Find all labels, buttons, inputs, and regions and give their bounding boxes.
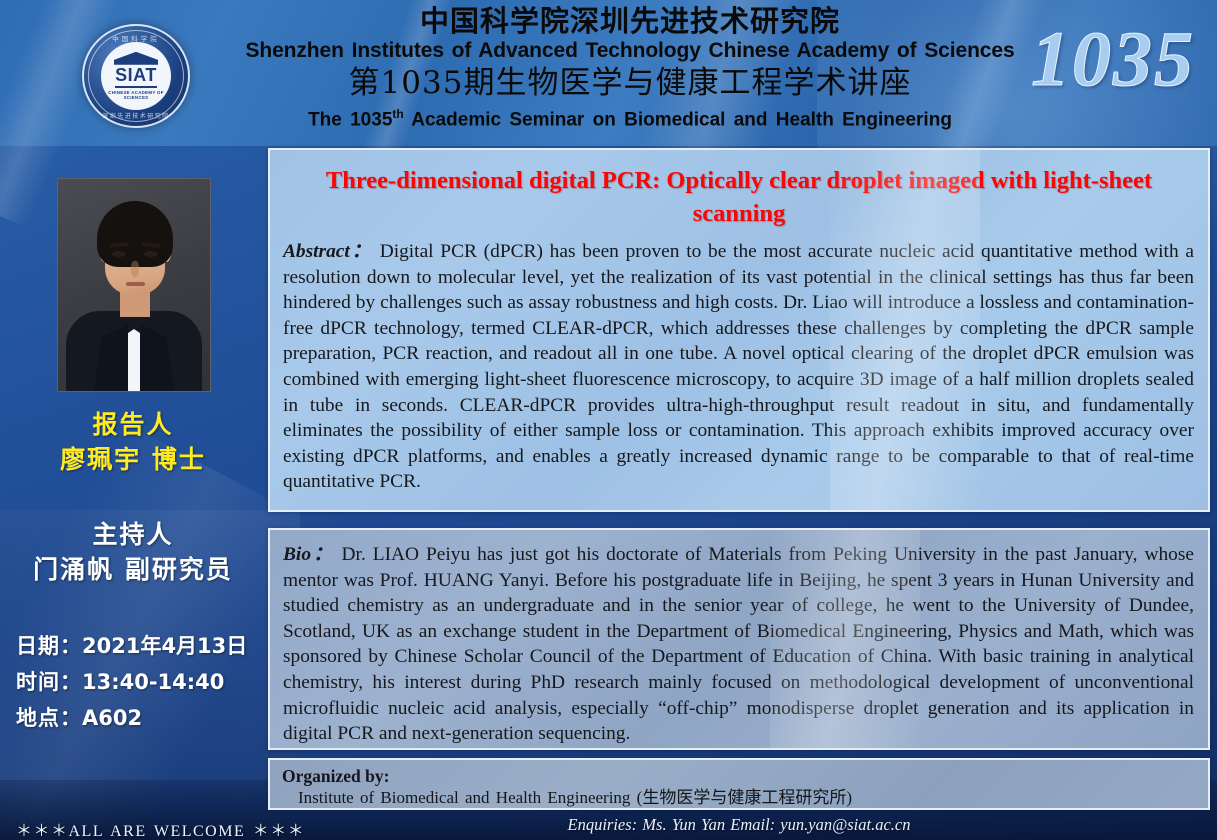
host-info: 主持人 门涌帆 副研究员 — [0, 518, 266, 588]
bio-body: Dr. LIAO Peiyu has just got his doctorat… — [283, 544, 1194, 744]
issue-number-watermark: 1035 — [1031, 20, 1195, 98]
organization-name-en: Shenzhen Institutes of Advanced Technolo… — [200, 38, 1060, 64]
speaker-name: 廖珮宇 博士 — [0, 442, 266, 478]
date-label: 日期： — [16, 634, 82, 658]
photo-eye-left — [112, 251, 126, 257]
organizer-panel: Organized by: Institute of Biomedical an… — [268, 758, 1210, 810]
location-value: A602 — [82, 706, 142, 730]
seminar-poster: 中国科学院 深圳先进技术研究院 SIAT CHINESE ACADEMY OF … — [0, 0, 1217, 840]
photo-hair — [97, 201, 173, 267]
logo-emblem: SIAT CHINESE ACADEMY OF SCIENCES — [101, 42, 171, 110]
photo-nose — [131, 261, 139, 277]
logo-roof-icon — [114, 52, 158, 65]
event-details: 日期：2021年4月13日 时间：13:40-14:40 地点：A602 — [16, 628, 266, 736]
event-detail-date: 日期：2021年4月13日 — [16, 628, 266, 664]
speaker-photo — [57, 178, 211, 392]
abstract-body: Digital PCR (dPCR) has been proven to be… — [283, 241, 1194, 492]
speaker-info: 报告人 廖珮宇 博士 — [0, 408, 266, 478]
logo-divider — [115, 86, 157, 88]
location-label: 地点： — [16, 706, 82, 730]
abstract-panel: Three-dimensional digital PCR: Optically… — [268, 148, 1210, 512]
seminar-title-en-rest: Academic Seminar on Biomedical and Healt… — [411, 109, 952, 130]
header-titles: 中国科学院深圳先进技术研究院 Shenzhen Institutes of Ad… — [200, 4, 1060, 132]
event-detail-location: 地点：A602 — [16, 700, 266, 736]
event-detail-time: 时间：13:40-14:40 — [16, 664, 266, 700]
seminar-title-en-prefix: The 1035 — [308, 109, 392, 130]
seminar-ordinal-suffix: th — [392, 107, 403, 121]
photo-eye-right — [144, 251, 158, 257]
host-label: 主持人 — [0, 518, 266, 552]
organized-by-label: Organized by: — [282, 766, 1208, 786]
organizer-name: Institute of Biomedical and Health Engin… — [298, 787, 1208, 808]
abstract-text: Abstract： Digital PCR (dPCR) has been pr… — [283, 239, 1194, 495]
welcome-note: ＊＊＊ALL ARE WELCOME ＊＊＊ — [16, 817, 305, 840]
speaker-label: 报告人 — [0, 408, 266, 442]
logo-subtitle: CHINESE ACADEMY OF SCIENCES — [101, 90, 171, 100]
seminar-title-cn: 第1035期生物医学与健康工程学术讲座 — [200, 64, 1060, 102]
siat-logo: 中国科学院 深圳先进技术研究院 SIAT CHINESE ACADEMY OF … — [82, 24, 190, 128]
host-name: 门涌帆 副研究员 — [0, 552, 266, 588]
talk-title: Three-dimensional digital PCR: Optically… — [296, 164, 1182, 230]
abstract-label: Abstract： — [283, 241, 373, 262]
time-value: 13:40-14:40 — [82, 670, 224, 694]
date-value: 2021年4月13日 — [82, 634, 247, 658]
seminar-title-en: The 1035th Academic Seminar on Biomedica… — [200, 102, 1060, 132]
bio-text: Bio： Dr. LIAO Peiyu has just got his doc… — [283, 542, 1194, 747]
logo-acronym: SIAT — [115, 66, 157, 84]
bio-label: Bio： — [283, 544, 335, 565]
time-label: 时间： — [16, 670, 82, 694]
photo-mouth — [126, 282, 145, 286]
logo-ring-bottom-text: 深圳先进技术研究院 — [82, 111, 190, 120]
enquiries-line: Enquiries: Ms. Yun Yan Email: yun.yan@si… — [268, 815, 1210, 835]
bio-panel: Bio： Dr. LIAO Peiyu has just got his doc… — [268, 528, 1210, 750]
organization-name-cn: 中国科学院深圳先进技术研究院 — [200, 4, 1060, 38]
